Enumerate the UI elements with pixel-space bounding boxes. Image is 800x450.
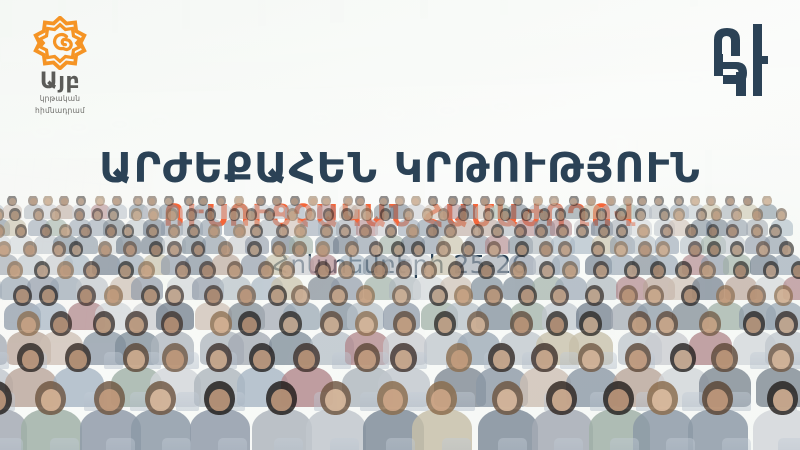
person-face [616, 245, 625, 256]
person-face [250, 245, 259, 256]
person-face [210, 350, 227, 370]
person-face [412, 198, 419, 205]
person-face [773, 389, 793, 412]
ayb-subtitle-line2: հիմնադրամ [35, 106, 85, 116]
person-face [535, 198, 542, 205]
person-face [168, 289, 181, 303]
person-face [707, 389, 727, 412]
auditorium-seat [162, 438, 191, 450]
person-face [396, 198, 403, 205]
person-face [772, 350, 789, 370]
person-face [282, 265, 293, 277]
person-face [371, 245, 380, 256]
person-face [209, 389, 229, 412]
person-face [207, 289, 220, 303]
person-face [266, 211, 273, 219]
person-face [771, 227, 779, 236]
person-face [359, 317, 374, 334]
person-face [380, 198, 387, 205]
person-face [728, 227, 736, 236]
person-face [150, 211, 157, 219]
uh-monogram-icon [704, 16, 782, 100]
person-face [639, 198, 646, 205]
person-face [449, 198, 456, 205]
person-face [497, 198, 504, 205]
person-face [553, 289, 566, 303]
person-face [200, 198, 207, 205]
person-face [493, 350, 510, 370]
person-face [583, 317, 598, 334]
person-face [637, 211, 644, 219]
person-face [542, 265, 553, 277]
person-face [296, 227, 304, 236]
person-face [165, 198, 172, 205]
person-face [702, 265, 713, 277]
auditorium-seat [610, 438, 639, 450]
person-face [675, 211, 682, 219]
person-face [22, 350, 39, 370]
person-face [487, 289, 500, 303]
person-face [17, 227, 25, 236]
person-face [565, 265, 576, 277]
person-face [464, 245, 473, 256]
person-face [779, 317, 794, 334]
person-face [257, 198, 264, 205]
person-face [374, 265, 385, 277]
person-face [582, 350, 599, 370]
person-face [230, 211, 237, 219]
person-face [640, 245, 649, 256]
person-face [639, 227, 647, 236]
person-face [778, 211, 785, 219]
person-face [690, 245, 699, 256]
person-face [188, 211, 195, 219]
person-face [608, 198, 615, 205]
person-face [11, 211, 18, 219]
person-face [107, 227, 115, 236]
person-face [76, 211, 83, 219]
person-face [310, 198, 317, 205]
person-face [399, 265, 410, 277]
auditorium-seat [498, 438, 527, 450]
person-face [431, 389, 451, 412]
person-face [702, 317, 717, 334]
ayb-foundation-logo[interactable]: Այբ կրթական հիմնադրամ [18, 16, 102, 120]
person-face [141, 265, 152, 277]
person-face [166, 350, 183, 370]
person-face [661, 211, 668, 219]
person-face [271, 289, 284, 303]
audience-crowd [0, 196, 800, 450]
person-face [513, 265, 524, 277]
person-face [561, 245, 570, 256]
person-face [405, 211, 412, 219]
auditorium-seat [666, 438, 695, 450]
person-face [94, 211, 101, 219]
person-face [383, 389, 403, 412]
person-face [52, 211, 59, 219]
person-face [489, 245, 498, 256]
person-face [550, 317, 565, 334]
person-face [318, 245, 327, 256]
auditorium-seat [106, 438, 135, 450]
person-face [632, 317, 647, 334]
person-face [135, 198, 142, 205]
person-face [110, 211, 117, 219]
person-face [777, 289, 790, 303]
person-face [627, 265, 638, 277]
person-face [559, 227, 567, 236]
person-face [710, 245, 719, 256]
person-face [655, 198, 662, 205]
person-face [69, 350, 86, 370]
person-face [464, 198, 471, 205]
person-face [727, 198, 734, 205]
person-face [515, 198, 522, 205]
person-face [96, 317, 111, 334]
person-face [322, 227, 330, 236]
person-face [242, 317, 257, 334]
person-face [151, 245, 160, 256]
person-face [481, 198, 488, 205]
person-face [581, 211, 588, 219]
person-face [324, 317, 339, 334]
person-face [289, 211, 296, 219]
person-face [127, 350, 144, 370]
person-face [733, 211, 740, 219]
person-face [625, 198, 632, 205]
person-face [793, 265, 800, 277]
person-face [570, 198, 577, 205]
person-face [25, 245, 34, 256]
person-face [678, 265, 689, 277]
person-face [345, 198, 352, 205]
person-face [485, 211, 492, 219]
person-face [170, 245, 179, 256]
person-face [735, 265, 746, 277]
background-photo-auditorium-audience [0, 0, 800, 450]
person-face [16, 289, 29, 303]
person-face [414, 245, 423, 256]
page-title: ԱՐԺԵՔԱՀԵՆ ԿՐԹՈՒԹՅՈՒՆ [0, 143, 800, 193]
person-face [332, 289, 345, 303]
person-face [202, 265, 213, 277]
person-face [557, 211, 564, 219]
person-face [150, 389, 170, 412]
person-face [432, 289, 445, 303]
person-face [35, 211, 42, 219]
person-face [86, 265, 97, 277]
person-face [323, 198, 330, 205]
person-face [394, 245, 403, 256]
person-face [357, 198, 364, 205]
person-face [61, 198, 68, 205]
person-face [497, 389, 517, 412]
person-face [81, 227, 89, 236]
person-face [552, 389, 572, 412]
person-face [60, 265, 71, 277]
person-face [45, 198, 52, 205]
person-face [471, 317, 486, 334]
person-face [279, 227, 287, 236]
person-face [629, 350, 646, 370]
auditorium-seat [274, 438, 303, 450]
person-face [291, 198, 298, 205]
person-face [716, 350, 733, 370]
person-face [9, 198, 16, 205]
person-face [746, 317, 761, 334]
person-face [481, 265, 492, 277]
person-face [617, 211, 624, 219]
auditorium-seat [554, 438, 583, 450]
person-face [41, 389, 61, 412]
person-face [37, 265, 48, 277]
person-face [221, 245, 230, 256]
auditorium-seat [0, 438, 23, 450]
person-face [126, 245, 135, 256]
person-face [451, 350, 468, 370]
person-face [501, 211, 508, 219]
person-face [409, 227, 417, 236]
person-face [521, 289, 534, 303]
person-face [493, 227, 501, 236]
auditorium-seat [50, 438, 79, 450]
person-face [382, 211, 389, 219]
person-face [283, 317, 298, 334]
person-face [99, 389, 119, 412]
conference-banner: Այբ կրթական հիմնադրամ ԱՐԺԵՔԱՀԵՆ ԿՐԹՈՒԹՅՈ… [0, 0, 800, 450]
person-face [648, 289, 661, 303]
person-face [764, 198, 771, 205]
person-face [663, 227, 671, 236]
auditorium-seat [218, 438, 247, 450]
person-face [440, 211, 447, 219]
person-face [708, 198, 715, 205]
person-face [236, 198, 243, 205]
person-face [348, 245, 357, 256]
person-face [598, 211, 605, 219]
person-face [608, 389, 628, 412]
person-face [438, 317, 453, 334]
person-face [540, 211, 547, 219]
auditorium-seat [442, 438, 471, 450]
audience-row [0, 396, 800, 450]
person-face [273, 198, 280, 205]
ayb-spiral-sun-icon [33, 16, 87, 70]
person-face [551, 198, 558, 205]
person-face [252, 227, 260, 236]
person-face [423, 211, 430, 219]
person-face [514, 317, 529, 334]
person-face [307, 211, 314, 219]
person-face [753, 211, 760, 219]
person-face [190, 227, 198, 236]
person-face [460, 211, 467, 219]
person-face [113, 198, 120, 205]
person-face [207, 211, 214, 219]
person-face [692, 198, 699, 205]
person-face [446, 227, 454, 236]
person-face [164, 317, 179, 334]
person-face [343, 211, 350, 219]
person-face [688, 227, 696, 236]
person-face [536, 350, 553, 370]
person-face [72, 245, 81, 256]
person-face [295, 245, 304, 256]
person-face [684, 289, 697, 303]
person-face [782, 245, 791, 256]
person-face [129, 317, 144, 334]
person-face [395, 350, 412, 370]
person-face [53, 317, 68, 334]
person-face [214, 317, 229, 334]
person-face [194, 245, 203, 256]
person-face [541, 245, 550, 256]
person-face [622, 289, 635, 303]
person-face [713, 211, 720, 219]
person-face [439, 245, 448, 256]
uh-monogram-logo[interactable] [704, 16, 782, 100]
person-face [61, 227, 69, 236]
person-face [744, 198, 751, 205]
person-face [325, 389, 345, 412]
person-face [428, 227, 436, 236]
person-face [659, 317, 674, 334]
auditorium-seat [722, 438, 751, 450]
person-face [21, 317, 36, 334]
person-face [523, 211, 530, 219]
ayb-subtitle-line1: կրթական [40, 94, 81, 104]
auditorium-seat [778, 438, 800, 450]
person-face [750, 289, 763, 303]
person-face [0, 245, 9, 256]
person-face [253, 350, 270, 370]
auditorium-seat [386, 438, 415, 450]
auditorium-seat [330, 438, 359, 450]
person-face [358, 350, 375, 370]
person-face [149, 227, 157, 236]
ayb-wordmark: Այբ [40, 72, 80, 92]
person-face [732, 245, 741, 256]
person-face [168, 211, 175, 219]
person-face [298, 350, 315, 370]
person-face [42, 289, 55, 303]
person-face [247, 211, 254, 219]
person-face [177, 265, 188, 277]
person-face [363, 211, 370, 219]
person-face [517, 245, 526, 256]
person-face [588, 198, 595, 205]
person-face [271, 389, 291, 412]
person-face [359, 289, 372, 303]
person-face [596, 265, 607, 277]
person-face [652, 389, 672, 412]
person-face [593, 245, 602, 256]
person-face [397, 317, 412, 334]
person-face [101, 245, 110, 256]
person-face [698, 211, 705, 219]
person-face [133, 211, 140, 219]
person-face [325, 211, 332, 219]
person-face [235, 227, 243, 236]
person-face [170, 227, 178, 236]
person-face [144, 289, 157, 303]
person-face [759, 245, 768, 256]
person-face [318, 265, 329, 277]
person-face [653, 265, 664, 277]
person-face [659, 245, 668, 256]
person-face [30, 198, 37, 205]
person-face [341, 265, 352, 277]
person-face [674, 350, 691, 370]
person-face [261, 265, 272, 277]
